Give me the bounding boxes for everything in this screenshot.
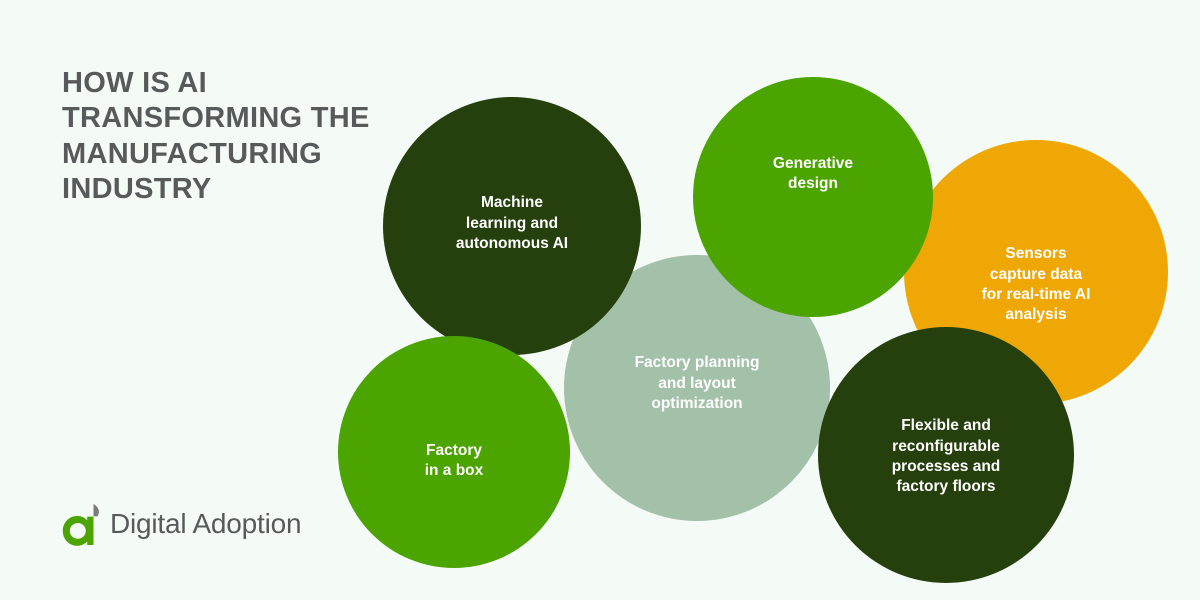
bubble-machine-learning[interactable]: Machine learning and autonomous AI	[383, 97, 641, 355]
logo-wordmark: Digital Adoption	[110, 508, 301, 540]
bubble-factory-in-a-box[interactable]: Factory in a box	[338, 336, 570, 568]
bubble-flexible-processes[interactable]: Flexible and reconfigurable processes an…	[818, 327, 1074, 583]
digital-adoption-logomark-icon	[62, 502, 104, 546]
bubble-generative-design[interactable]: Generative design	[693, 77, 933, 317]
bubble-label-machine-learning: Machine learning and autonomous AI	[456, 193, 568, 254]
infographic-canvas: HOW IS AI TRANSFORMING THE MANUFACTURING…	[0, 0, 1200, 600]
brand-logo[interactable]: Digital Adoption	[62, 500, 301, 548]
bubble-label-factory-in-a-box: Factory in a box	[425, 441, 484, 482]
bubble-label-factory-planning: Factory planning and layout optimization	[635, 353, 760, 414]
bubble-label-generative-design: Generative design	[773, 154, 853, 195]
bubble-label-flexible-processes: Flexible and reconfigurable processes an…	[892, 416, 1001, 498]
bubble-label-sensors: Sensors capture data for real-time AI an…	[982, 244, 1091, 326]
